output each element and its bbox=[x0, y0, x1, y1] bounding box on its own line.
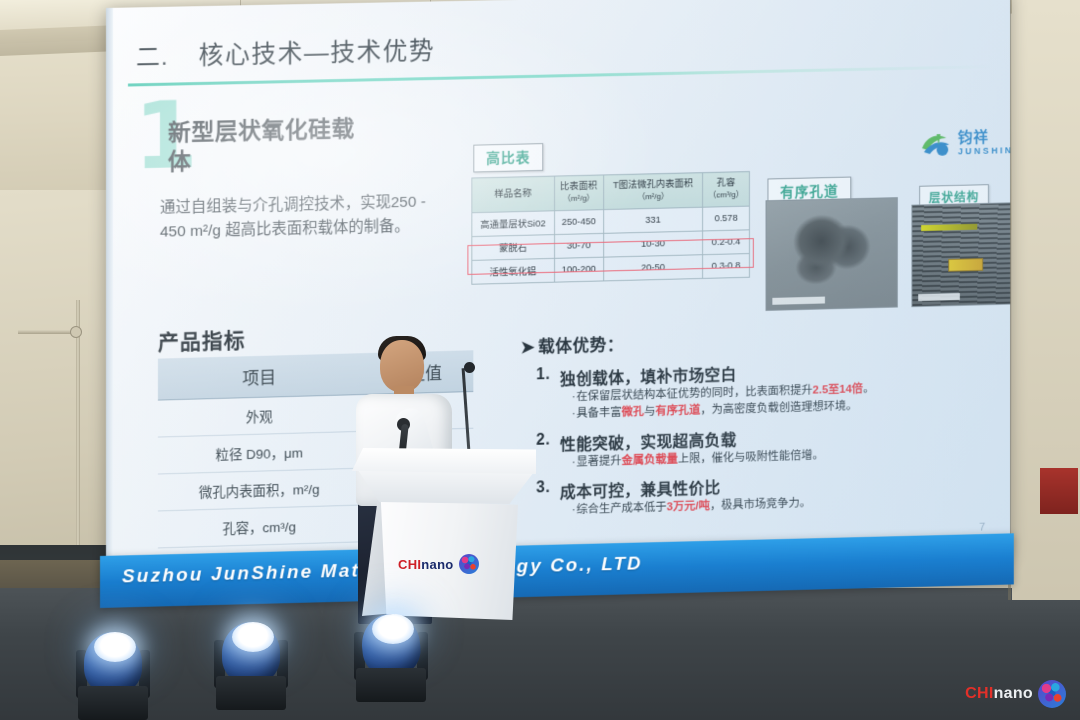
chinano-nano: nano bbox=[421, 557, 453, 572]
junshine-en: JUNSHINE bbox=[958, 146, 1010, 156]
tem-image-a bbox=[767, 198, 897, 310]
section-number: 二. bbox=[136, 37, 169, 73]
spec-header-cell: T图法微孔内表面积（m²/g） bbox=[603, 173, 702, 210]
metrics-item: 外观 bbox=[158, 395, 360, 437]
spec-tplot: 10-30 bbox=[603, 231, 702, 257]
light-lens bbox=[232, 622, 274, 652]
spec-tplot: 331 bbox=[603, 207, 702, 233]
chinano-wordmark: CHInano bbox=[965, 685, 1033, 703]
light-lens bbox=[372, 614, 414, 644]
projection-screen: 二. 核心技术—技术优势 1 新型层状氧化硅载体 通过自组装与介孔调控技术，实现… bbox=[106, 0, 1010, 586]
advantages-heading-text: 载体优势： bbox=[538, 335, 624, 356]
red-equipment-box bbox=[1040, 468, 1078, 514]
micrograph-layered-structure bbox=[911, 202, 1010, 307]
metrics-item: 微孔内表面积，m²/g bbox=[158, 468, 360, 511]
advantage-number: 2. bbox=[534, 431, 550, 455]
advantages-heading: ➤载体优势： bbox=[521, 330, 624, 358]
podium-chinano-logo: CHInano bbox=[398, 554, 479, 574]
stage-light bbox=[74, 628, 152, 720]
spec-bet: 100-200 bbox=[554, 257, 603, 282]
spec-bet: 30-70 bbox=[554, 233, 603, 258]
spec-sample-name: 高通量层状Si02 bbox=[472, 211, 554, 237]
pipe-valve bbox=[70, 326, 82, 338]
spec-sample-name: 蒙脱石 bbox=[472, 234, 554, 260]
podium-slope bbox=[358, 470, 534, 504]
tem-image-b bbox=[912, 203, 1010, 306]
spec-header-cell: 样品名称 bbox=[472, 176, 554, 212]
stage-light bbox=[352, 610, 430, 702]
stage-light bbox=[212, 618, 290, 710]
junshine-wordmark: 钧祥 JUNSHINE bbox=[958, 129, 1010, 156]
spec-bet: 250-450 bbox=[554, 209, 603, 234]
slide-headline: 新型层状氧化硅载体 bbox=[168, 114, 377, 177]
chinano-molecule-icon bbox=[1038, 680, 1066, 708]
metrics-item: 粒径 D90，μm bbox=[158, 431, 360, 474]
spec-pore: 0.2-0.4 bbox=[703, 230, 750, 255]
specification-table: 样品名称比表面积（m²/g）T图法微孔内表面积（m²/g）孔容（cm³/g） 高… bbox=[471, 171, 750, 284]
metrics-item: 孔容，cm³/g bbox=[158, 505, 360, 548]
slide-page-number: 7 bbox=[979, 522, 985, 534]
slide-lead-paragraph: 通过自组装与介孔调控技术，实现250 - 450 m²/g 超高比表面积载体的制… bbox=[160, 190, 426, 244]
spec-header-cell: 孔容（cm³/g） bbox=[703, 172, 750, 207]
advantage-item: 1.独创载体，填补市场空白·在保留层状结构本征优势的同时，比表面积提升2.5至1… bbox=[534, 354, 992, 424]
screen-left-edge bbox=[106, 8, 113, 586]
junshine-cn: 钧祥 bbox=[958, 129, 1010, 145]
advantage-number: 3. bbox=[534, 479, 550, 503]
spec-pore: 0.3-0.8 bbox=[703, 253, 750, 278]
spec-pore: 0.578 bbox=[703, 206, 750, 231]
scale-bar bbox=[772, 297, 824, 305]
scale-bar bbox=[918, 293, 960, 301]
junshine-mark-icon bbox=[919, 129, 952, 159]
micrograph-ordered-pore-channels bbox=[766, 197, 898, 311]
advantage-number: 1. bbox=[534, 366, 550, 390]
spec-sample-name: 活性氧化铝 bbox=[472, 258, 554, 284]
light-base bbox=[78, 686, 148, 720]
spec-tplot: 20-50 bbox=[603, 254, 702, 280]
podium-top bbox=[352, 448, 536, 474]
speaker-head bbox=[380, 340, 424, 392]
section-title-text: 核心技术—技术优势 bbox=[198, 31, 435, 72]
light-lens bbox=[94, 632, 136, 662]
advantages-list: 1.独创载体，填补市场空白·在保留层状结构本征优势的同时，比表面积提升2.5至1… bbox=[534, 354, 992, 527]
chinano-watermark: CHInano bbox=[965, 680, 1066, 708]
metrics-section-title: 产品指标 bbox=[158, 324, 246, 356]
chinano-wordmark: CHInano bbox=[398, 557, 454, 572]
chinano-chi: CHI bbox=[965, 685, 993, 702]
advantage-item: 2.性能突破，实现超高负载·显著提升金属负载量上限，催化与吸附性能倍增。 bbox=[534, 419, 992, 473]
spec-table-tag: 高比表 bbox=[473, 143, 543, 172]
podium: CHInano bbox=[352, 448, 536, 620]
junshine-logo: 钧祥 JUNSHINE bbox=[919, 127, 1010, 159]
slide-title: 二. 核心技术—技术优势 bbox=[136, 28, 572, 73]
chevron-right-icon: ➤ bbox=[521, 338, 536, 357]
tem-highlight-marker bbox=[948, 258, 984, 272]
chinano-molecule-icon bbox=[459, 554, 479, 574]
advantage-item: 3.成本可控，兼具性价比·综合生产成本低于3万元/吨，极具市场竞争力。 bbox=[534, 466, 992, 520]
chinano-chi: CHI bbox=[398, 557, 421, 572]
metrics-header-item: 项目 bbox=[158, 353, 360, 400]
light-base bbox=[356, 668, 426, 702]
light-base bbox=[216, 676, 286, 710]
chinano-nano: nano bbox=[994, 685, 1033, 702]
mic-stand-head bbox=[464, 362, 475, 373]
stage-floor bbox=[0, 588, 1080, 720]
spec-header-cell: 比表面积（m²/g） bbox=[554, 175, 603, 211]
